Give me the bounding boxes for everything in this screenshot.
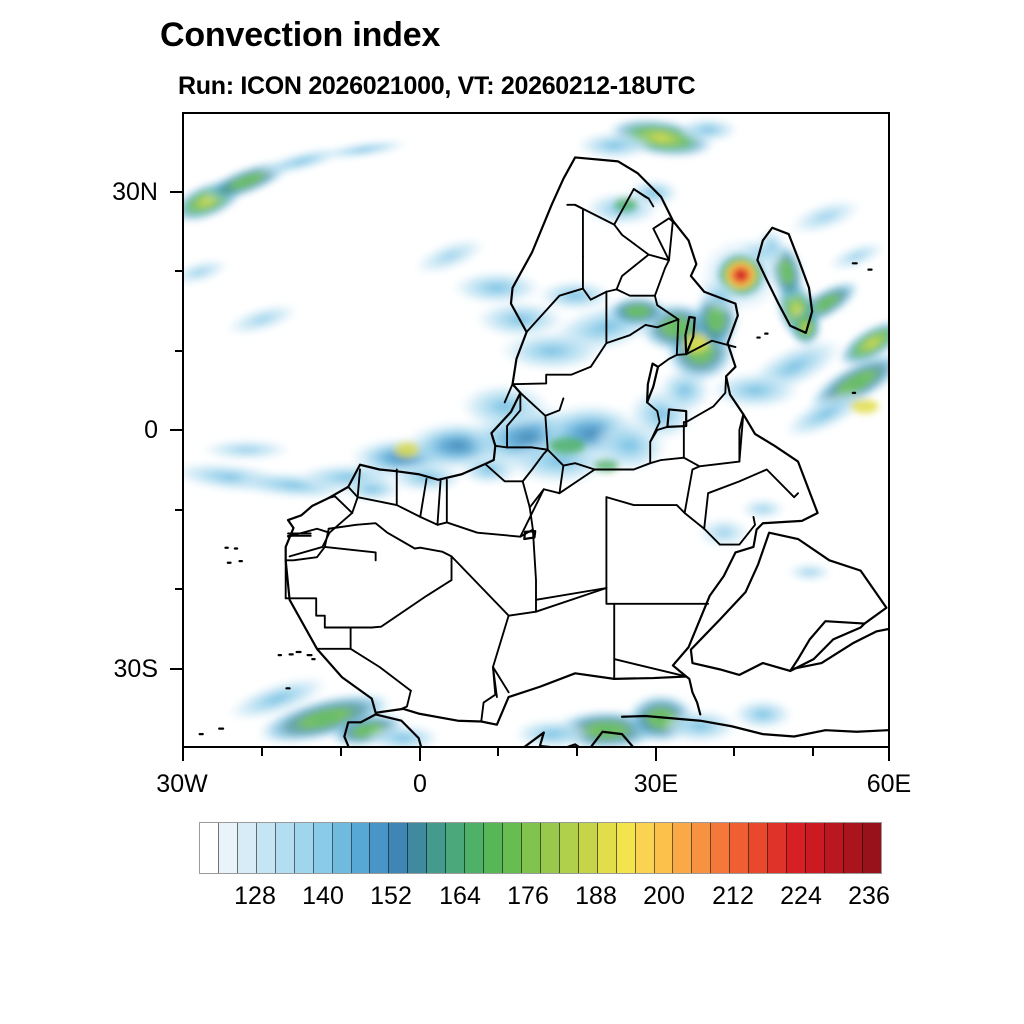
y-tick-major-30s — [170, 668, 182, 670]
blob-south-africa — [583, 179, 681, 226]
x-tick-minor-10e — [497, 748, 499, 756]
blob-zambezi — [450, 270, 673, 371]
cape-verde-islands — [225, 548, 241, 563]
run-valid-time-subtitle: Run: ICON 2026021000, VT: 20260212-18UTC — [178, 72, 695, 101]
colorbar-tick-200: 200 — [624, 882, 704, 911]
colorbar-cell-1 — [219, 823, 238, 873]
x-tick-minor-40e — [733, 748, 735, 756]
y-tick-minor-10n — [175, 350, 182, 352]
y-tick-minor-10s — [175, 509, 182, 511]
colorbar-cell-9 — [370, 823, 389, 873]
x-tick-major-30e — [655, 748, 657, 761]
x-tick-minor-20e — [576, 748, 578, 756]
colorbar-cell-30 — [768, 823, 787, 873]
colorbar-tick-236: 236 — [829, 882, 909, 911]
colorbar-cell-5 — [295, 823, 314, 873]
colorbar-cell-17 — [522, 823, 541, 873]
colorbar-cell-24 — [655, 823, 674, 873]
colorbar — [199, 822, 882, 874]
colorbar-cell-3 — [257, 823, 276, 873]
colorbar-tick-152: 152 — [351, 882, 431, 911]
colorbar-cell-16 — [503, 823, 522, 873]
colorbar-cell-26 — [692, 823, 711, 873]
colorbar-cell-33 — [825, 823, 844, 873]
arabia-coastline — [691, 533, 887, 675]
colorbar-cells — [199, 822, 882, 874]
x-tick-minor-20w — [261, 748, 263, 756]
x-tick-major-60e — [888, 748, 890, 761]
y-tick-label-30n: 30N — [58, 178, 158, 207]
map-canvas — [184, 114, 888, 746]
y-tick-minor-20n — [175, 270, 182, 272]
colorbar-cell-18 — [541, 823, 560, 873]
y-tick-label-0: 0 — [58, 416, 158, 445]
canary-islands — [279, 652, 315, 659]
x-tick-minor-50e — [812, 748, 814, 756]
colorbar-cell-34 — [844, 823, 863, 873]
colorbar-cell-19 — [560, 823, 579, 873]
colorbar-cell-27 — [711, 823, 730, 873]
persian-gulf — [790, 624, 864, 671]
colorbar-cell-7 — [333, 823, 352, 873]
y-tick-minor-20s — [175, 588, 182, 590]
x-tick-label-60e: 60E — [829, 770, 949, 799]
x-tick-minor-10w — [340, 748, 342, 756]
colorbar-cell-21 — [598, 823, 617, 873]
colorbar-cell-2 — [238, 823, 257, 873]
x-tick-label-30e: 30E — [596, 770, 716, 799]
y-tick-label-30s: 30S — [58, 655, 158, 684]
colorbar-cell-4 — [276, 823, 295, 873]
convection-index-figure: Convection index Run: ICON 2026021000, V… — [0, 0, 1024, 1024]
page-title: Convection index — [160, 16, 440, 55]
colorbar-cell-14 — [465, 823, 484, 873]
y-tick-major-0 — [170, 429, 182, 431]
colorbar-cell-25 — [673, 823, 692, 873]
colorbar-cell-10 — [389, 823, 408, 873]
colorbar-cell-6 — [314, 823, 333, 873]
x-tick-major-0 — [419, 748, 421, 761]
colorbar-cell-11 — [408, 823, 427, 873]
map-plot-area — [182, 112, 890, 748]
colorbar-cell-8 — [352, 823, 371, 873]
blob-southern-front-east — [575, 114, 739, 164]
colorbar-cell-22 — [617, 823, 636, 873]
colorbar-cell-20 — [579, 823, 598, 873]
colorbar-cell-35 — [863, 823, 881, 873]
colorbar-cell-15 — [484, 823, 503, 873]
convection-field — [184, 114, 888, 746]
y-tick-major-30n — [170, 191, 182, 193]
x-tick-label-30w: 30W — [122, 770, 242, 799]
colorbar-cell-0 — [200, 823, 219, 873]
colorbar-cell-29 — [749, 823, 768, 873]
blob-southern-front-west — [184, 136, 411, 232]
colorbar-cell-28 — [730, 823, 749, 873]
colorbar-cell-32 — [806, 823, 825, 873]
x-tick-label-0: 0 — [360, 770, 480, 799]
blob-mediterranean-levant — [364, 693, 794, 746]
colorbar-cell-12 — [427, 823, 446, 873]
x-tick-major-30w — [182, 748, 184, 761]
colorbar-cell-23 — [636, 823, 655, 873]
colorbar-cell-31 — [787, 823, 806, 873]
colorbar-cell-13 — [446, 823, 465, 873]
